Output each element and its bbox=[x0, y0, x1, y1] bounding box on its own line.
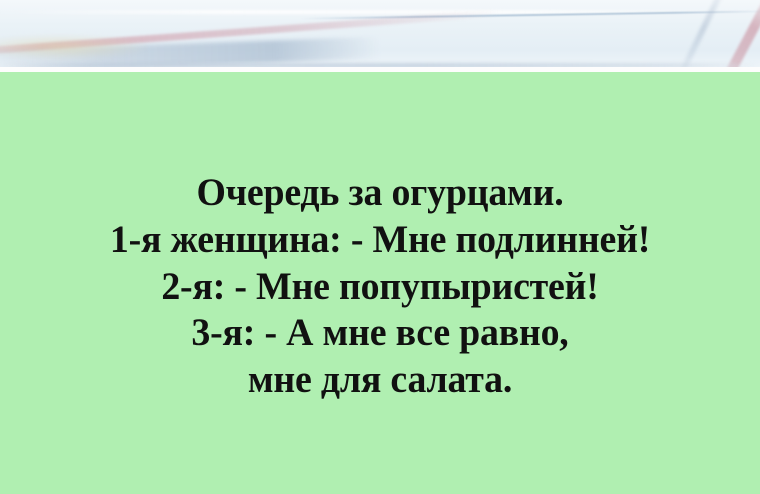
banner-grey-diagonal-streak-right bbox=[672, 0, 730, 72]
joke-line-title: Очередь за огурцами. bbox=[11, 170, 748, 217]
banner-highlight-streak bbox=[0, 10, 760, 14]
meme-card: Очередь за огурцами. 1-я женщина: - Мне … bbox=[0, 0, 760, 494]
banner-pink-diagonal-streak-right bbox=[719, 0, 760, 72]
banner-tan-glow-streak bbox=[0, 34, 150, 60]
joke-text-block: Очередь за огурцами. 1-я женщина: - Мне … bbox=[0, 170, 760, 404]
banner-bottom-shadow bbox=[0, 63, 760, 68]
joke-line-second-woman: 2-я: - Мне попупыристей! bbox=[11, 264, 748, 311]
banner-pink-diagonal-streak-left bbox=[0, 10, 500, 58]
joke-text-panel: Очередь за огурцами. 1-я женщина: - Мне … bbox=[0, 72, 760, 494]
decorative-header-banner bbox=[0, 0, 760, 72]
banner-blue-wedge-streak bbox=[0, 37, 380, 72]
banner-thin-rule-streak bbox=[300, 10, 760, 19]
joke-line-third-woman-part1: 3-я: - А мне все равно, bbox=[11, 310, 748, 357]
joke-line-third-woman-part2: мне для салата. bbox=[11, 357, 748, 404]
joke-line-first-woman: 1-я женщина: - Мне подлинней! bbox=[11, 217, 748, 264]
